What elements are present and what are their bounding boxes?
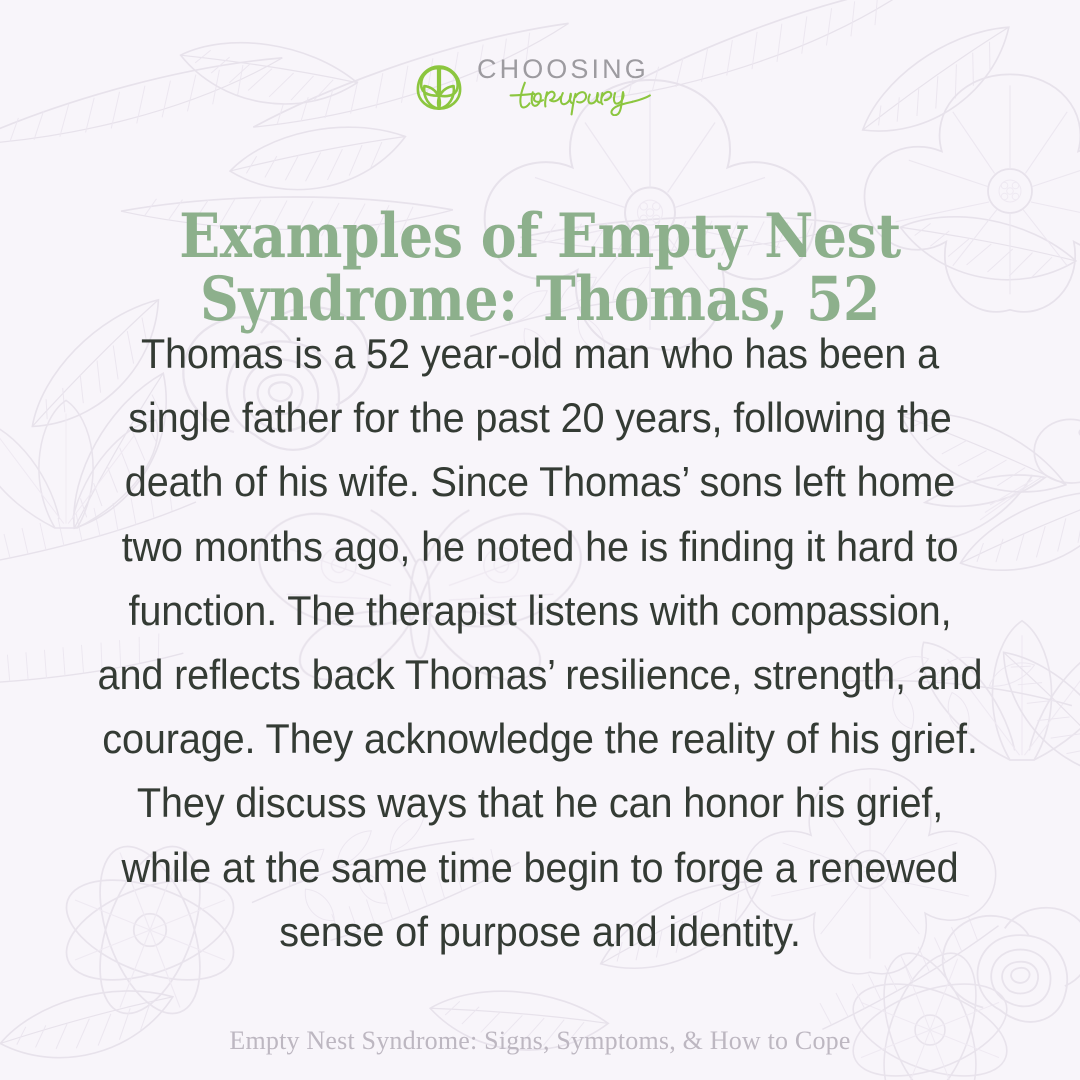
wordmark-therapy-script [505, 78, 665, 116]
footer-caption: Empty Nest Syndrome: Signs, Symptoms, & … [0, 1026, 1080, 1056]
social-graphic-card: CHOOSING [0, 0, 1080, 1080]
body-line: while at the same time begin to forge a … [91, 836, 989, 900]
brand-wordmark: CHOOSING [477, 54, 667, 116]
body-line: sense of purpose and identity. [91, 900, 989, 964]
body-line: single father for the past 20 years, fol… [91, 386, 989, 450]
leaf-circle-icon [413, 60, 465, 112]
body-line: two months ago, he noted he is finding i… [91, 515, 989, 579]
body-paragraph: Thomas is a 52 year-old man who has been… [91, 322, 989, 964]
body-line: function. The therapist listens with com… [91, 579, 989, 643]
body-line: and reflects back Thomas’ resilience, st… [91, 643, 989, 707]
body-line: Thomas is a 52 year-old man who has been… [91, 322, 989, 386]
page-title: Examples of Empty Nest Syndrome: Thomas,… [118, 205, 963, 331]
brand-logo: CHOOSING [0, 46, 1080, 124]
body-line: They discuss ways that he can honor his … [91, 771, 989, 835]
body-line: death of his wife. Since Thomas’ sons le… [91, 450, 989, 514]
body-line: courage. They acknowledge the reality of… [91, 707, 989, 771]
